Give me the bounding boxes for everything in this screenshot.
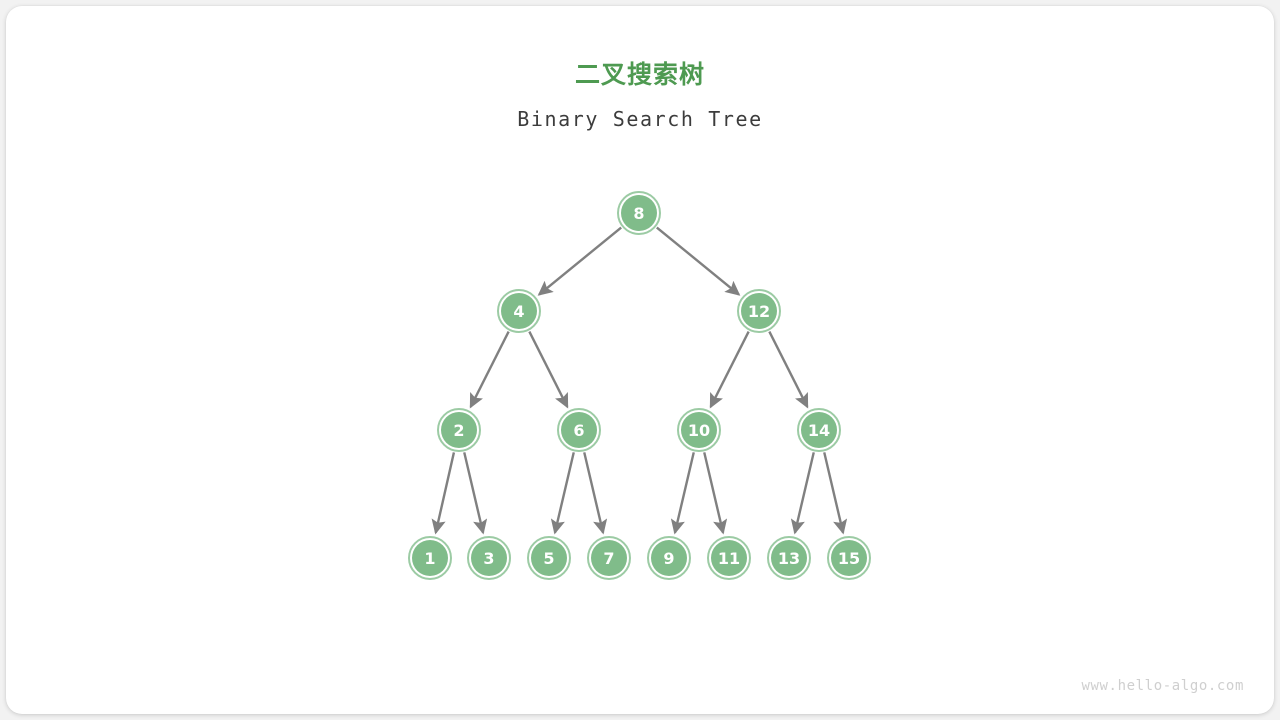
tree-edge-n2-to-n1 — [436, 452, 454, 532]
node-layer — [409, 192, 870, 579]
tree-node-hit-14[interactable] — [796, 407, 842, 453]
tree-edge-n12-to-n10 — [711, 332, 749, 407]
binary-search-tree-diagram — [0, 0, 1280, 720]
tree-node-hit-12[interactable] — [736, 288, 782, 334]
tree-edge-n8-to-n4 — [539, 228, 621, 295]
watermark: www.hello-algo.com — [1081, 678, 1244, 694]
tree-node-hit-7[interactable] — [586, 535, 632, 581]
tree-node-hit-10[interactable] — [676, 407, 722, 453]
tree-node-hit-5[interactable] — [526, 535, 572, 581]
edge-layer — [436, 228, 843, 533]
tree-node-hit-9[interactable] — [646, 535, 692, 581]
tree-node-hit-4[interactable] — [496, 288, 542, 334]
tree-node-hit-2[interactable] — [436, 407, 482, 453]
tree-edge-n2-to-n3 — [464, 452, 483, 532]
tree-edge-n14-to-n13 — [795, 452, 814, 532]
tree-node-hit-11[interactable] — [706, 535, 752, 581]
tree-edge-n8-to-n12 — [657, 228, 739, 295]
tree-node-hit-15[interactable] — [826, 535, 872, 581]
tree-node-hit-3[interactable] — [466, 535, 512, 581]
tree-edge-n10-to-n11 — [704, 452, 723, 532]
canvas: 二叉搜索树 Binary Search Tree 841226101413579… — [0, 0, 1280, 720]
tree-edge-n4-to-n2 — [471, 332, 509, 407]
tree-edge-n10-to-n9 — [675, 452, 694, 532]
tree-edge-n6-to-n7 — [584, 452, 603, 532]
tree-node-hit-8[interactable] — [616, 190, 662, 236]
tree-node-hit-1[interactable] — [407, 535, 453, 581]
tree-node-hit-13[interactable] — [766, 535, 812, 581]
tree-edge-n14-to-n15 — [824, 452, 843, 532]
tree-node-hit-6[interactable] — [556, 407, 602, 453]
tree-edge-n12-to-n14 — [769, 332, 807, 407]
tree-edge-n4-to-n6 — [529, 332, 567, 407]
tree-edge-n6-to-n5 — [555, 452, 574, 532]
